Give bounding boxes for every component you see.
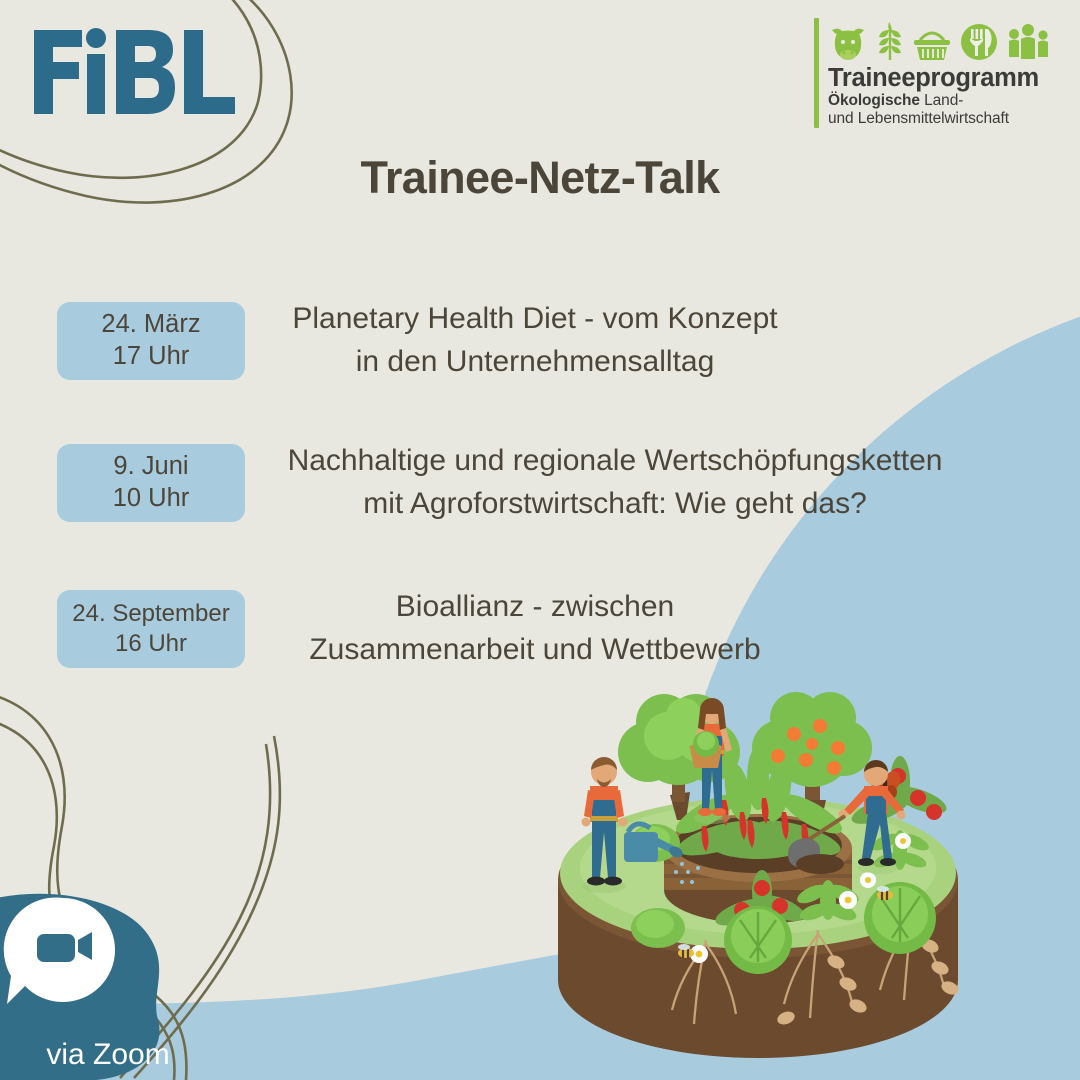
- logo-accent-bar: [814, 18, 819, 128]
- traineeprogramm-logo: Traineeprogramm Ökologische Land- und Le…: [814, 18, 1050, 128]
- event-date: 9. Juni: [113, 451, 188, 483]
- date-badge[interactable]: 24. September 16 Uhr: [57, 590, 245, 668]
- logo-subtitle-line2: und Lebensmittelwirtschaft: [828, 110, 1050, 128]
- cow-head-icon: [828, 22, 868, 62]
- event-time: 16 Uhr: [115, 629, 187, 659]
- event-time: 10 Uhr: [113, 483, 190, 515]
- fibl-logo: [26, 22, 256, 122]
- wheat-ear-icon: [875, 20, 905, 62]
- zoom-label: via Zoom: [18, 1038, 198, 1072]
- event-title: Planetary Health Diet - vom Konzept in d…: [255, 298, 815, 383]
- poster-canvas: Traineeprogramm Ökologische Land- und Le…: [0, 0, 1080, 1080]
- event-title: Bioallianz - zwischen Zusammenarbeit und…: [255, 586, 815, 671]
- date-badge[interactable]: 24. März 17 Uhr: [57, 302, 245, 380]
- event-row: 9. Juni 10 Uhr Nachhaltige und regionale…: [57, 440, 975, 525]
- event-row: 24. März 17 Uhr Planetary Health Diet - …: [57, 298, 815, 383]
- logo-subtitle-rest: Land-: [920, 92, 963, 109]
- fibl-letter-i-dot: [86, 28, 106, 48]
- zoom-video-icon: [4, 897, 115, 1004]
- logo-subtitle-bold: Ökologische: [828, 92, 920, 109]
- fibl-letter-i-stem: [87, 54, 105, 114]
- logo-icon-row: [828, 18, 1050, 62]
- event-title: Nachhaltige und regionale Wertschöpfungs…: [255, 440, 975, 525]
- event-row: 24. September 16 Uhr Bioallianz - zwisch…: [57, 586, 815, 671]
- shopping-basket-icon: [912, 26, 952, 62]
- event-date: 24. September: [72, 599, 229, 629]
- logo-subtitle-line1: Ökologische Land-: [828, 92, 1050, 110]
- page-title: Trainee-Netz-Talk: [0, 152, 1080, 204]
- fibl-letter-F: [34, 30, 82, 114]
- event-time: 17 Uhr: [113, 341, 190, 373]
- family-people-icon: [1006, 22, 1050, 62]
- event-date: 24. März: [101, 309, 200, 341]
- date-badge[interactable]: 9. Juni 10 Uhr: [57, 444, 245, 522]
- fibl-letter-B: [116, 30, 175, 114]
- fibl-letter-L: [184, 30, 235, 114]
- plate-fork-icon: [959, 22, 999, 62]
- logo-title: Traineeprogramm: [828, 65, 1050, 92]
